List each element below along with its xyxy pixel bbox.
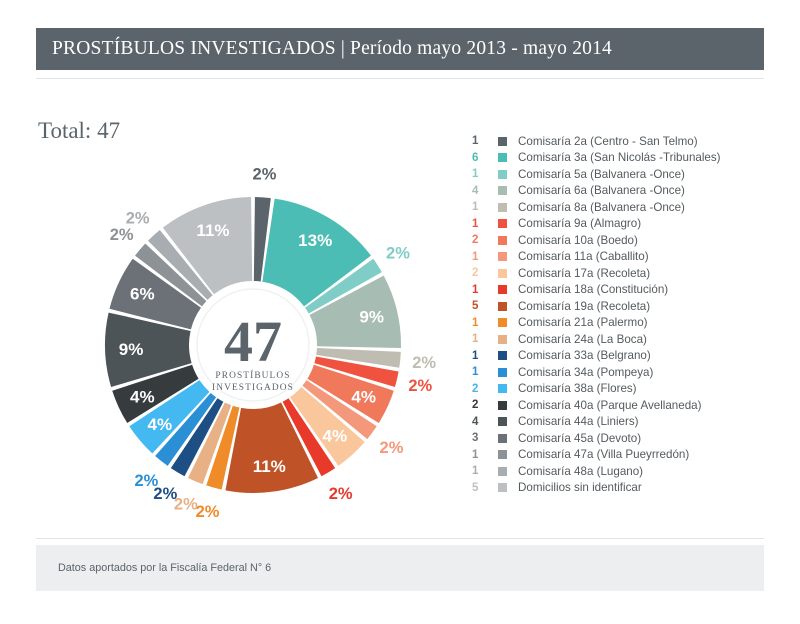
legend-item: 1Comisaría 18a (Constitución) bbox=[472, 282, 772, 299]
legend-color-swatch bbox=[498, 252, 507, 261]
legend-item: 3Comisaría 45a (Devoto) bbox=[472, 430, 772, 447]
page-title: PROSTÍBULOS INVESTIGADOS | Período mayo … bbox=[36, 38, 612, 60]
slice-percent-label: 2% bbox=[386, 244, 410, 262]
legend-color-swatch bbox=[498, 335, 507, 344]
header-divider bbox=[36, 78, 764, 79]
slice-percent-label: 2% bbox=[110, 226, 134, 244]
legend-label: Comisaría 47a (Villa Pueyrredón) bbox=[518, 448, 689, 461]
slice-percent-label: 2% bbox=[134, 472, 158, 490]
legend-item: 2Comisaría 17a (Recoleta) bbox=[472, 265, 772, 282]
legend-color-swatch bbox=[498, 351, 507, 360]
legend-item: 4Comisaría 44a (Liniers) bbox=[472, 414, 772, 431]
legend-color-swatch bbox=[498, 467, 507, 476]
legend-color-swatch bbox=[498, 219, 507, 228]
legend-label: Comisaría 45a (Devoto) bbox=[518, 432, 641, 445]
legend-color-swatch bbox=[498, 384, 507, 393]
legend-item: 1Comisaría 48a (Lugano) bbox=[472, 463, 772, 480]
legend-label: Comisaría 21a (Palermo) bbox=[518, 316, 648, 329]
legend-item: 2Comisaría 40a (Parque Avellaneda) bbox=[472, 397, 772, 414]
legend-count: 1 bbox=[472, 350, 486, 362]
legend-label: Comisaría 48a (Lugano) bbox=[518, 465, 643, 478]
slice-percent-label: 2% bbox=[380, 439, 404, 457]
legend-color-swatch bbox=[498, 285, 507, 294]
legend-item: 1Comisaría 21a (Palermo) bbox=[472, 315, 772, 332]
legend-label: Comisaría 40a (Parque Avellaneda) bbox=[518, 399, 701, 412]
legend-item: 2Comisaría 10a (Boedo) bbox=[472, 232, 772, 249]
legend-count: 1 bbox=[472, 284, 486, 296]
legend-label: Comisaría 17a (Recoleta) bbox=[518, 267, 650, 280]
legend-color-swatch bbox=[498, 368, 507, 377]
header-bar: PROSTÍBULOS INVESTIGADOS | Período mayo … bbox=[36, 28, 764, 70]
legend-label: Comisaría 33a (Belgrano) bbox=[518, 349, 651, 362]
legend-color-swatch bbox=[498, 153, 507, 162]
legend-item: 1Comisaría 34a (Pompeya) bbox=[472, 364, 772, 381]
legend-count: 1 bbox=[472, 449, 486, 461]
footer-panel: Datos aportados por la Fiscalía Federal … bbox=[36, 545, 764, 591]
legend-color-swatch bbox=[498, 186, 507, 195]
legend-count: 3 bbox=[472, 432, 486, 444]
legend-color-swatch bbox=[498, 434, 507, 443]
total-label: Total: 47 bbox=[38, 118, 120, 144]
donut-outer-labels: 2%2%2%2%2%2%2%2%2%2%2%2% bbox=[88, 180, 418, 510]
legend-color-swatch bbox=[498, 137, 507, 146]
legend-color-swatch bbox=[498, 450, 507, 459]
legend-label: Comisaría 9a (Almagro) bbox=[518, 217, 641, 230]
legend-count: 1 bbox=[472, 317, 486, 329]
legend-color-swatch bbox=[498, 170, 507, 179]
legend-count: 1 bbox=[472, 251, 486, 263]
legend-color-swatch bbox=[498, 269, 507, 278]
legend-count: 6 bbox=[472, 152, 486, 164]
legend-count: 1 bbox=[472, 366, 486, 378]
legend-item: 1Comisaría 9a (Almagro) bbox=[472, 216, 772, 233]
slice-percent-label: 2% bbox=[329, 485, 353, 503]
legend-label: Comisaría 19a (Recoleta) bbox=[518, 300, 650, 313]
legend-label: Comisaría 34a (Pompeya) bbox=[518, 366, 653, 379]
legend-color-swatch bbox=[498, 203, 507, 212]
legend: 1Comisaría 2a (Centro - San Telmo)6Comis… bbox=[472, 133, 772, 496]
legend-count: 2 bbox=[472, 234, 486, 246]
legend-label: Comisaría 11a (Caballito) bbox=[518, 250, 649, 263]
legend-color-swatch bbox=[498, 483, 507, 492]
legend-count: 5 bbox=[472, 482, 486, 494]
slice-percent-label: 2% bbox=[253, 165, 277, 183]
footer-divider bbox=[36, 538, 764, 539]
legend-label: Domicilios sin identificar bbox=[518, 481, 642, 494]
slice-percent-label: 2% bbox=[174, 495, 198, 513]
legend-count: 4 bbox=[472, 185, 486, 197]
slice-percent-label: 2% bbox=[196, 503, 220, 521]
legend-label: Comisaría 18a (Constitución) bbox=[518, 283, 668, 296]
legend-item: 1Comisaría 8a (Balvanera -Once) bbox=[472, 199, 772, 216]
legend-color-swatch bbox=[498, 236, 507, 245]
legend-count: 1 bbox=[472, 168, 486, 180]
legend-label: Comisaría 5a (Balvanera -Once) bbox=[518, 168, 685, 181]
legend-item: 1Comisaría 11a (Caballito) bbox=[472, 249, 772, 266]
legend-color-swatch bbox=[498, 302, 507, 311]
legend-label: Comisaría 24a (La Boca) bbox=[518, 333, 647, 346]
legend-label: Comisaría 3a (San Nicolás -Tribunales) bbox=[518, 151, 721, 164]
legend-item: 1Comisaría 33a (Belgrano) bbox=[472, 348, 772, 365]
legend-count: 2 bbox=[472, 399, 486, 411]
legend-label: Comisaría 44a (Liniers) bbox=[518, 415, 639, 428]
legend-label: Comisaría 8a (Balvanera -Once) bbox=[518, 201, 685, 214]
legend-count: 5 bbox=[472, 300, 486, 312]
legend-item: 5Comisaría 19a (Recoleta) bbox=[472, 298, 772, 315]
legend-item: 5Domicilios sin identificar bbox=[472, 480, 772, 497]
legend-count: 1 bbox=[472, 201, 486, 213]
legend-item: 1Comisaría 24a (La Boca) bbox=[472, 331, 772, 348]
legend-color-swatch bbox=[498, 318, 507, 327]
legend-item: 1Comisaría 5a (Balvanera -Once) bbox=[472, 166, 772, 183]
legend-count: 1 bbox=[472, 333, 486, 345]
legend-label: Comisaría 38a (Flores) bbox=[518, 382, 637, 395]
slice-percent-label: 2% bbox=[126, 209, 150, 227]
legend-item: 1Comisaría 2a (Centro - San Telmo) bbox=[472, 133, 772, 150]
legend-item: 6Comisaría 3a (San Nicolás -Tribunales) bbox=[472, 150, 772, 167]
legend-count: 2 bbox=[472, 383, 486, 395]
legend-label: Comisaría 2a (Centro - San Telmo) bbox=[518, 135, 698, 148]
donut-chart: 13%9%4%4%11%4%4%9%6%11% 47 PROSTÍBULOS I… bbox=[88, 180, 418, 510]
slice-percent-label: 2% bbox=[412, 354, 436, 372]
legend-label: Comisaría 6a (Balvanera -Once) bbox=[518, 184, 685, 197]
slice-percent-label: 2% bbox=[408, 377, 432, 395]
legend-item: 4Comisaría 6a (Balvanera -Once) bbox=[472, 183, 772, 200]
legend-count: 1 bbox=[472, 135, 486, 147]
legend-item: 1Comisaría 47a (Villa Pueyrredón) bbox=[472, 447, 772, 464]
legend-count: 1 bbox=[472, 218, 486, 230]
legend-label: Comisaría 10a (Boedo) bbox=[518, 234, 638, 247]
legend-color-swatch bbox=[498, 401, 507, 410]
legend-item: 2Comisaría 38a (Flores) bbox=[472, 381, 772, 398]
legend-count: 4 bbox=[472, 416, 486, 428]
footer-source-text: Datos aportados por la Fiscalía Federal … bbox=[36, 562, 271, 574]
legend-color-swatch bbox=[498, 417, 507, 426]
legend-count: 1 bbox=[472, 465, 486, 477]
legend-count: 2 bbox=[472, 267, 486, 279]
